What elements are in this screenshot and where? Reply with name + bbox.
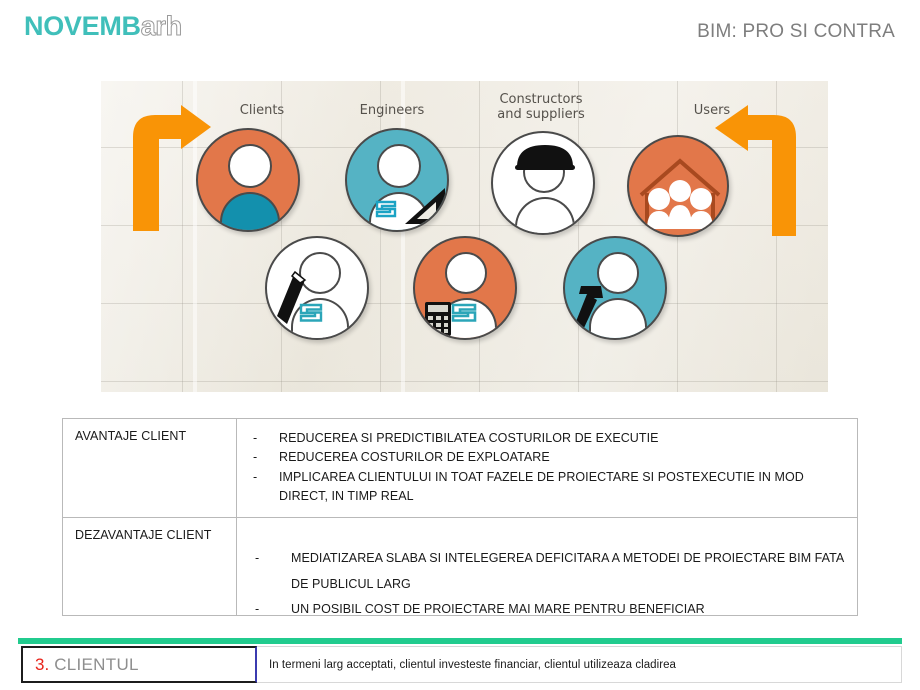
table-row-advantages: AVANTAJE CLIENT - REDUCEREA SI PREDICTIB… [63, 419, 857, 518]
list-item: - REDUCEREA SI PREDICTIBILATEA COSTURILO… [237, 429, 847, 448]
node-label: Constructors and suppliers [461, 93, 621, 123]
person-icon [267, 238, 367, 338]
bim-logo-mark [297, 300, 329, 326]
person-icon [493, 133, 593, 233]
bullet-text: REDUCEREA COSTURILOR DE EXPLOATARE [279, 448, 847, 467]
node-label: Engineers [312, 104, 472, 119]
users-circle [627, 135, 729, 237]
list-item: - REDUCEREA COSTURILOR DE EXPLOATARE [237, 448, 847, 467]
bullet-text: REDUCEREA SI PREDICTIBILATEA COSTURILOR … [279, 429, 847, 448]
logo-secondary-text: arh [141, 11, 182, 41]
row-content-disadvantages: - MEDIATIZAREA SLABA SI INTELEGEREA DEFI… [237, 518, 857, 615]
page-title: BIM: PRO SI CONTRA [697, 21, 895, 43]
bullet-marker: - [237, 448, 279, 467]
bullet-text: MEDIATIZAREA SLABA SI INTELEGEREA DEFICI… [291, 546, 847, 597]
list-item: - MEDIATIZAREA SLABA SI INTELEGEREA DEFI… [237, 546, 847, 597]
person-icon [415, 238, 515, 338]
bullet-marker: - [237, 597, 291, 623]
clients-circle [196, 128, 300, 232]
page-header: NOVEMBarh BIM: PRO SI CONTRA [0, 0, 920, 62]
section-number: 3. [35, 655, 49, 675]
row-content-advantages: - REDUCEREA SI PREDICTIBILATEA COSTURILO… [237, 419, 857, 517]
row-label-advantages: AVANTAJE CLIENT [63, 419, 237, 517]
bullet-text: IMPLICAREA CLIENTULUI IN TOAT FAZELE DE … [279, 468, 847, 507]
constructors-circle [491, 131, 595, 235]
bullet-marker: - [237, 546, 291, 597]
table-row-disadvantages: DEZAVANTAJE CLIENT - MEDIATIZAREA SLABA … [63, 518, 857, 615]
row-label-disadvantages: DEZAVANTAJE CLIENT [63, 518, 237, 615]
section-indicator: 3. CLIENTUL [21, 646, 257, 683]
quantity-surveyors-circle [413, 236, 517, 340]
logo-primary-text: NOVEMB [24, 11, 141, 41]
brand-logo: NOVEMBarh [24, 11, 182, 42]
person-icon [198, 130, 298, 230]
node-label: Users [632, 104, 792, 119]
list-item: - IMPLICAREA CLIENTULUI IN TOAT FAZELE D… [237, 468, 847, 507]
advantages-table: AVANTAJE CLIENT - REDUCEREA SI PREDICTIB… [62, 418, 858, 616]
operations-managers-circle [563, 236, 667, 340]
hard-hat-icon [513, 139, 577, 173]
bullet-text: UN POSIBIL COST DE PROIECTARE MAI MARE P… [291, 597, 847, 623]
person-icon [565, 238, 665, 338]
engineers-circle [345, 128, 449, 232]
bullet-marker: - [237, 429, 279, 448]
stakeholder-diagram-image: Clients Engineers C [101, 81, 828, 392]
house-with-people-icon [635, 149, 725, 235]
bim-logo-mark [373, 196, 403, 222]
hammer-icon [571, 282, 617, 336]
footer-caption-box: In termeni larg acceptati, clientul inve… [257, 646, 902, 683]
bullet-marker: - [237, 468, 279, 507]
architects-circle [265, 236, 369, 340]
footer-accent-bar [18, 638, 902, 644]
footer-caption-text: In termeni larg acceptati, clientul inve… [269, 659, 676, 671]
bim-logo-mark [449, 300, 483, 326]
person-icon [347, 130, 447, 230]
section-title: CLIENTUL [54, 655, 139, 675]
set-square-icon [403, 186, 449, 228]
list-item: - UN POSIBIL COST DE PROIECTARE MAI MARE… [237, 597, 847, 623]
